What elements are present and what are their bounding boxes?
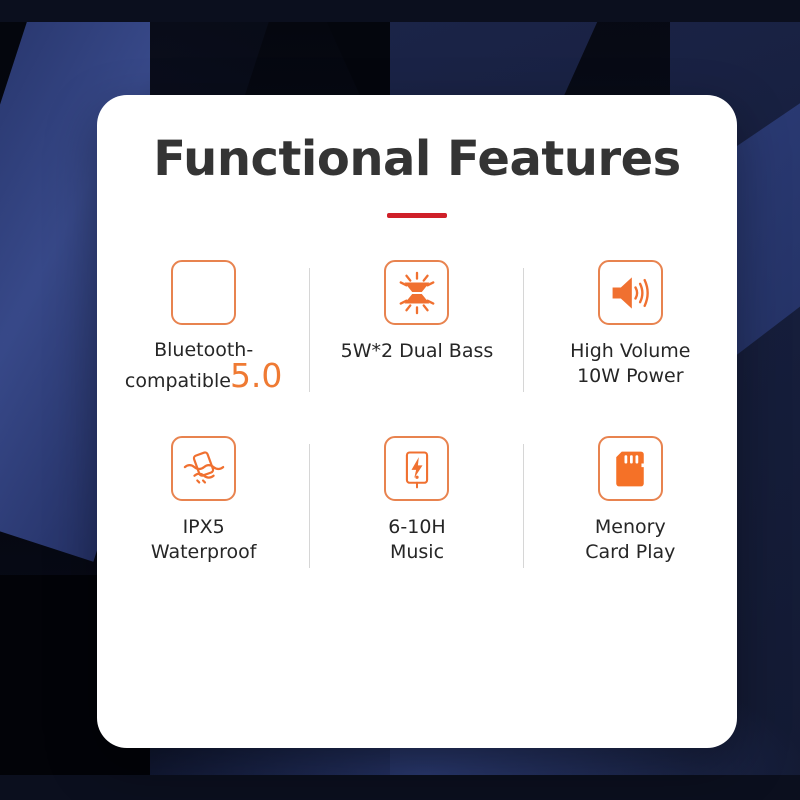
speaker-volume-icon-box (598, 260, 663, 325)
feature-card: Functional Features Bluetooth- compatibl… (97, 95, 737, 748)
dual-bass-speaker-icon-box (384, 260, 449, 325)
bluetooth-label-line2-row: compatible 5.0 (125, 363, 283, 394)
feature-item-waterproof[interactable]: IPX5 Waterproof (97, 436, 310, 612)
waterproof-icon (181, 446, 227, 492)
battery-charging-icon-box (384, 436, 449, 501)
sd-memory-card-icon-box (598, 436, 663, 501)
background-bottom-band (0, 775, 800, 800)
feature-item-battery-life[interactable]: 6-10H Music (310, 436, 523, 612)
feature-label-waterproof: IPX5 Waterproof (151, 515, 257, 565)
feature-label-battery-life: 6-10H Music (388, 515, 445, 565)
background-top-band (0, 0, 800, 22)
feature-item-dual-bass[interactable]: 5W*2 Dual Bass (310, 260, 523, 436)
feature-label-bluetooth: Bluetooth- compatible 5.0 (97, 337, 310, 394)
bluetooth-label-line2: compatible (125, 368, 231, 394)
product-feature-banner: Functional Features Bluetooth- compatibl… (0, 0, 800, 800)
feature-label-high-volume: High Volume 10W Power (570, 339, 690, 389)
feature-item-high-volume[interactable]: High Volume 10W Power (524, 260, 737, 436)
title-underline-accent (387, 213, 447, 218)
waterproof-icon-box (171, 436, 236, 501)
feature-label-dual-bass: 5W*2 Dual Bass (341, 339, 494, 364)
dual-bass-speaker-icon (394, 270, 440, 316)
battery-charging-icon (395, 447, 439, 491)
speaker-volume-icon (608, 271, 652, 315)
feature-label-memory-card: Menory Card Play (585, 515, 675, 565)
page-title: Functional Features (97, 131, 737, 187)
feature-item-bluetooth[interactable]: Bluetooth- compatible 5.0 (97, 260, 310, 436)
bluetooth-icon (171, 260, 236, 325)
sd-memory-card-icon (608, 447, 652, 491)
feature-item-memory-card[interactable]: Menory Card Play (524, 436, 737, 612)
bluetooth-version: 5.0 (230, 363, 282, 389)
feature-grid: Bluetooth- compatible 5.0 (97, 260, 737, 612)
